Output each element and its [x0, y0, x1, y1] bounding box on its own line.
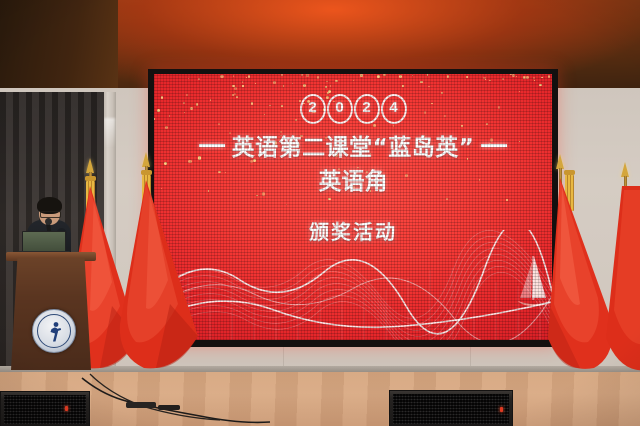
flag-banner: [112, 180, 204, 372]
screen-subtitle: 颁奖活动: [154, 216, 552, 245]
screen-title-secondary: 英语角: [154, 162, 552, 196]
screen-title-row: 英语第二课堂“蓝岛英”: [154, 128, 552, 162]
flag-finial-icon: [86, 158, 94, 173]
title-rule-right: [481, 144, 507, 147]
flag-banner: [600, 186, 640, 374]
led-screen: 2 0 2 4 英语第二课堂“蓝岛英” 英语角 颁奖活动: [154, 74, 552, 340]
wave-graphic: [154, 230, 552, 340]
glasses-icon: [40, 211, 61, 218]
floor-monitor-right: [389, 390, 513, 426]
school-crest-icon: [32, 309, 76, 353]
flag-finial-icon: [621, 162, 629, 177]
wall-pillar-highlight: [104, 118, 115, 148]
ceiling-left-shadow: [0, 0, 118, 100]
flag-finial-icon: [556, 154, 564, 169]
year-digit: 0: [327, 94, 353, 124]
microphone-head: [45, 218, 52, 225]
year-digit: 2: [354, 94, 380, 124]
year-badge: 2 0 2 4: [154, 94, 552, 124]
audio-cables: [70, 372, 370, 426]
year-digit: 4: [381, 94, 407, 124]
monitor-grill: [393, 394, 509, 424]
monitor-power-led: [500, 407, 503, 412]
title-rule-left: [199, 144, 225, 147]
crest-figure-icon: [46, 321, 63, 342]
flag-finial-icon: [142, 152, 150, 167]
monitor-power-led: [65, 406, 68, 411]
screen-title-primary: 英语第二课堂“蓝岛英”: [232, 128, 475, 162]
year-digit: 2: [300, 94, 326, 124]
stage-photo-scene: 2 0 2 4 英语第二课堂“蓝岛英” 英语角 颁奖活动: [0, 0, 640, 426]
